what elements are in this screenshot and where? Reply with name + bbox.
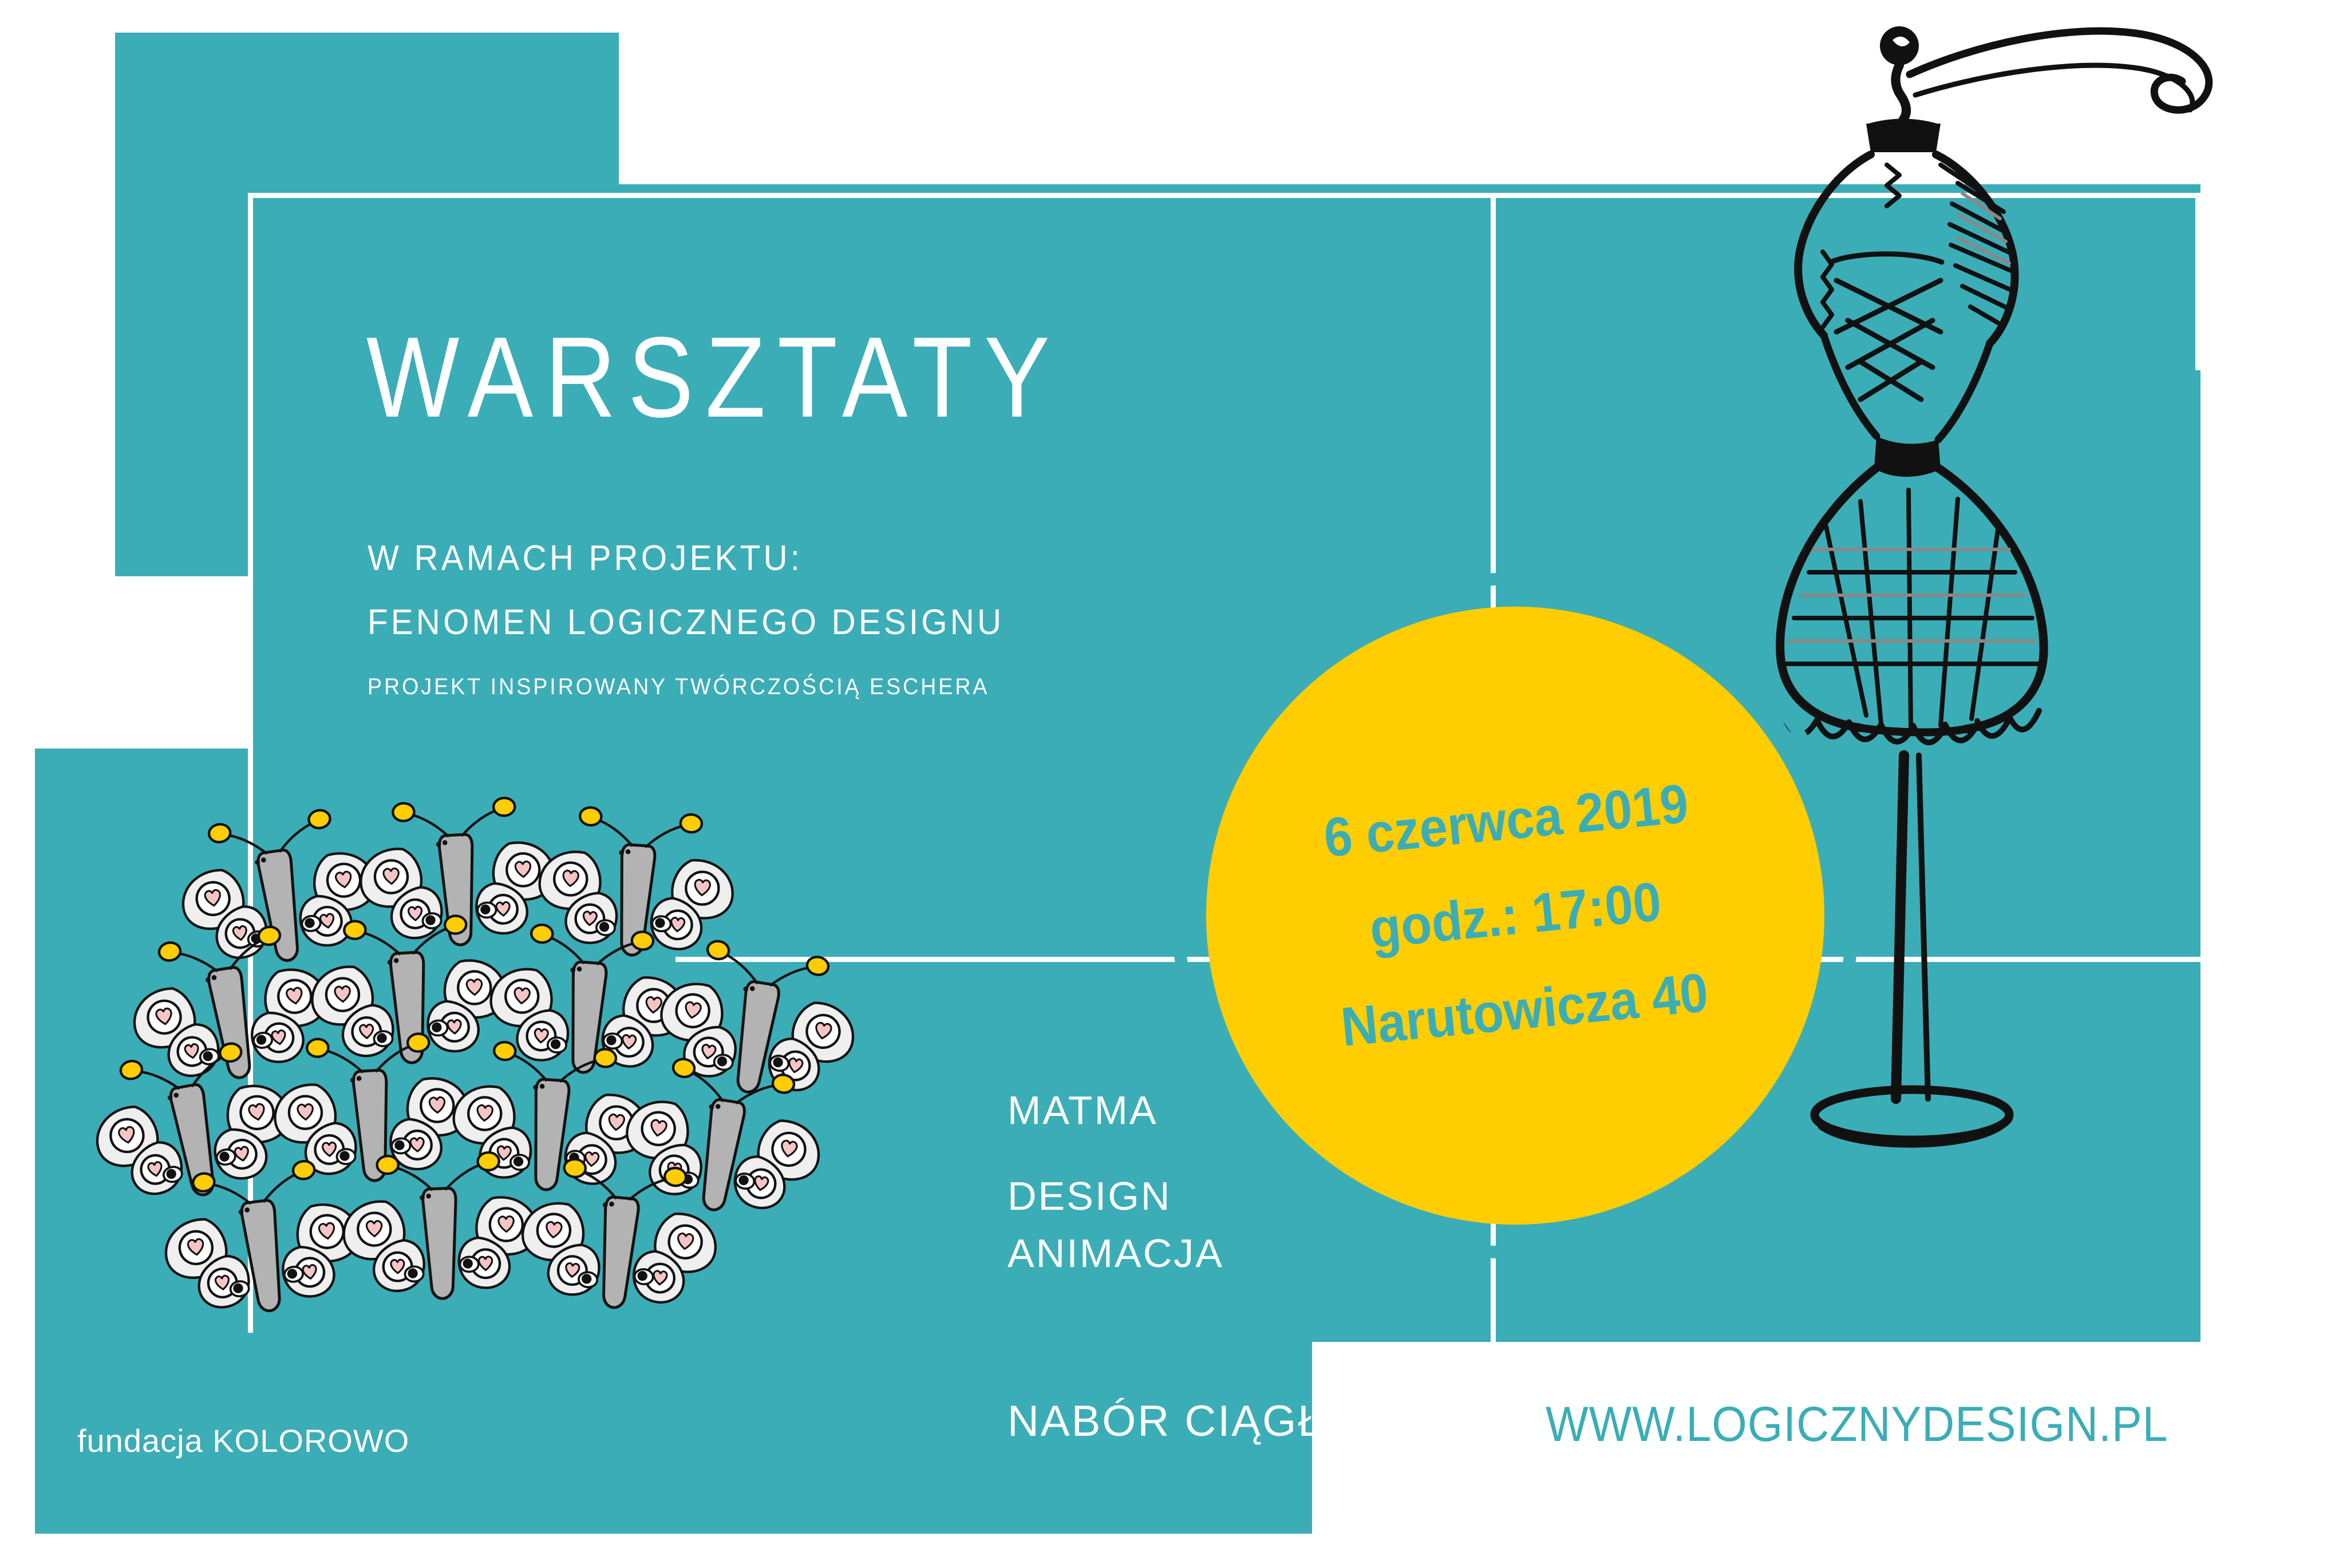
project-line-2: FENOMEN LOGICZNEGO DESIGNU: [368, 602, 1004, 643]
event-date: 6 czerwca 2019: [1321, 772, 1691, 870]
event-address: Narutowicza 40: [1338, 961, 1711, 1059]
project-line-1: W RAMACH PROJEKTU:: [368, 538, 803, 579]
poster-canvas: 6 czerwca 2019 godz.: 17:00 Narutowicza …: [0, 0, 2335, 1568]
butterfly-tessellation-illustration: [92, 732, 904, 1396]
website-url[interactable]: WWW.LOGICZNYDESIGN.PL: [1546, 1396, 2168, 1453]
page-title: WARSZTATY: [366, 320, 1061, 435]
topic-matma: MATMA: [1008, 1087, 1158, 1133]
topic-design: DESIGN: [1008, 1173, 1171, 1219]
enrollment-note: NABÓR CIĄGŁY: [1008, 1396, 1354, 1446]
topic-animacja: ANIMACJA: [1008, 1230, 1224, 1276]
organizer-name: fundacja KOLOROWO: [77, 1422, 409, 1459]
dress-form-sketch-illustration: [1769, 11, 2255, 1202]
event-time: godz.: 17:00: [1367, 870, 1664, 961]
event-badge-text-group: 6 czerwca 2019 godz.: 17:00 Narutowicza …: [1178, 579, 1853, 1253]
project-line-3: PROJEKT INSPIROWANY TWÓRCZOŚCIĄ ESCHERA: [368, 674, 989, 700]
